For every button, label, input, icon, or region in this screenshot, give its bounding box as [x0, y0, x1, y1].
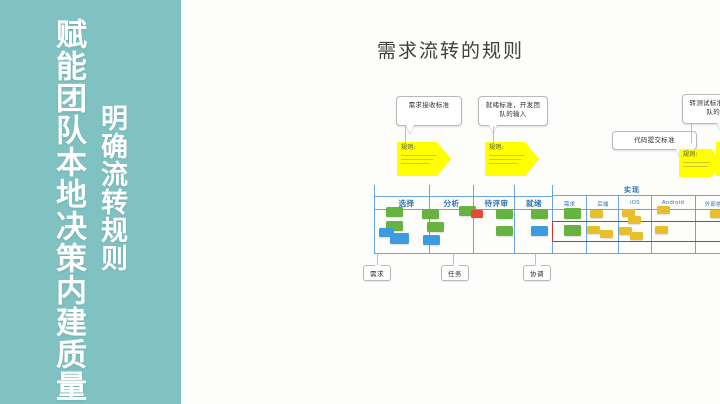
kanban-card-green[interactable]: [427, 222, 444, 232]
bottom-label-tail-icon: [453, 259, 459, 266]
callout-code-commit-standard: 代码提交标准: [612, 131, 697, 150]
bottom-label-text: 协调: [530, 270, 544, 278]
panel-title-main: 赋能团队本地决策内建质量: [52, 18, 83, 402]
callout-tail-icon: [406, 125, 414, 134]
bottom-label-coordination: 协调: [523, 265, 551, 281]
slide-canvas: 赋能团队本地决策内建质量 明确流转规则 需求流转的规则 需求接收标准 就绪标准，…: [0, 0, 720, 404]
rule-arrow-label: 规则:: [401, 145, 447, 152]
board-divider: [374, 185, 375, 253]
kanban-card-green[interactable]: [386, 207, 403, 217]
callout-text: 需求接收标准: [409, 101, 450, 109]
connector-line: [453, 253, 454, 265]
column-header-ready[interactable]: 就绪: [514, 198, 554, 209]
callout-requirement-acceptance: 需求接收标准: [396, 96, 462, 126]
subcolumn-header-external-dep[interactable]: 外部依赖: [695, 200, 720, 208]
rule-arrow-2[interactable]: 规则:: [679, 149, 720, 177]
kanban-card-yellow[interactable]: [587, 226, 600, 234]
bottom-label-requirement: 需求: [363, 265, 391, 281]
board-divider: [473, 185, 474, 253]
rule-arrow-3[interactable]: 规则:: [716, 142, 720, 176]
kanban-board: 实现 选择 分析 待评审 就绪 待测试 测试 待发布 已发布 需求 后端 iOS…: [374, 185, 720, 261]
rule-arrow-1[interactable]: 规则:: [485, 142, 539, 176]
kanban-card-green[interactable]: [531, 209, 548, 219]
kanban-card-blue[interactable]: [423, 235, 440, 245]
kanban-card-red[interactable]: [471, 210, 483, 218]
kanban-card-yellow[interactable]: [657, 206, 670, 214]
page-title: 需求流转的规则: [181, 36, 720, 63]
connector-line: [493, 126, 494, 143]
board-divider: [514, 185, 515, 253]
callout-text: 就绪标准，开发团队的输入: [486, 101, 540, 118]
connector-line: [535, 253, 536, 265]
board-top-rule: [374, 196, 552, 197]
content-area: 需求流转的规则 需求接收标准 就绪标准，开发团队的输入 代码提交标准 转测试标准…: [181, 0, 720, 404]
bottom-label-text: 需求: [370, 270, 384, 278]
rule-arrow-placeholder-lines: [489, 155, 535, 164]
kanban-card-yellow[interactable]: [710, 210, 720, 218]
rule-arrow-0[interactable]: 规则:: [397, 142, 451, 176]
kanban-card-yellow[interactable]: [630, 232, 643, 240]
subcolumn-header-requirement[interactable]: 需求: [552, 200, 587, 208]
panel-title-sub: 明确流转规则: [98, 104, 125, 272]
rule-arrow-placeholder-lines: [401, 155, 447, 164]
kanban-card-green[interactable]: [496, 209, 513, 219]
bottom-label-text: 任务: [448, 270, 462, 278]
connector-line: [691, 124, 692, 143]
kanban-card-yellow[interactable]: [628, 216, 641, 224]
bottom-label-task: 任务: [441, 265, 469, 281]
side-panel: 赋能团队本地决策内建质量 明确流转规则: [0, 0, 181, 404]
column-header-review[interactable]: 待评审: [474, 198, 519, 209]
kanban-card-blue[interactable]: [531, 226, 548, 236]
rule-arrow-label: 规则:: [683, 152, 719, 159]
board-group-header: 实现: [624, 185, 640, 195]
kanban-card-yellow[interactable]: [590, 210, 603, 218]
kanban-card-green[interactable]: [564, 225, 581, 236]
kanban-card-yellow[interactable]: [600, 230, 613, 238]
bottom-label-tail-icon: [535, 259, 541, 266]
kanban-card-green[interactable]: [496, 226, 513, 236]
connector-line: [377, 253, 378, 265]
board-bottom-rule: [374, 253, 720, 254]
connector-line: [405, 126, 406, 143]
subcolumn-header-backend[interactable]: 后端: [587, 200, 619, 208]
callout-ready-standard: 就绪标准，开发团队的输入: [478, 96, 548, 126]
kanban-card-yellow[interactable]: [655, 226, 668, 234]
subcolumn-header-ios[interactable]: iOS: [619, 200, 651, 206]
kanban-card-green[interactable]: [422, 209, 439, 219]
callout-text: 代码提交标准: [634, 136, 675, 145]
kanban-card-green[interactable]: [564, 208, 581, 219]
callout-test-handoff-standard: 转测试标准，开发团队的输出: [682, 94, 720, 124]
kanban-card-blue[interactable]: [390, 233, 409, 244]
board-divider: [552, 185, 553, 253]
rule-arrow-placeholder-lines: [683, 162, 719, 167]
rule-arrow-label: 规则:: [489, 145, 535, 152]
callout-text: 转测试标准，开发团队的输出: [689, 99, 720, 116]
